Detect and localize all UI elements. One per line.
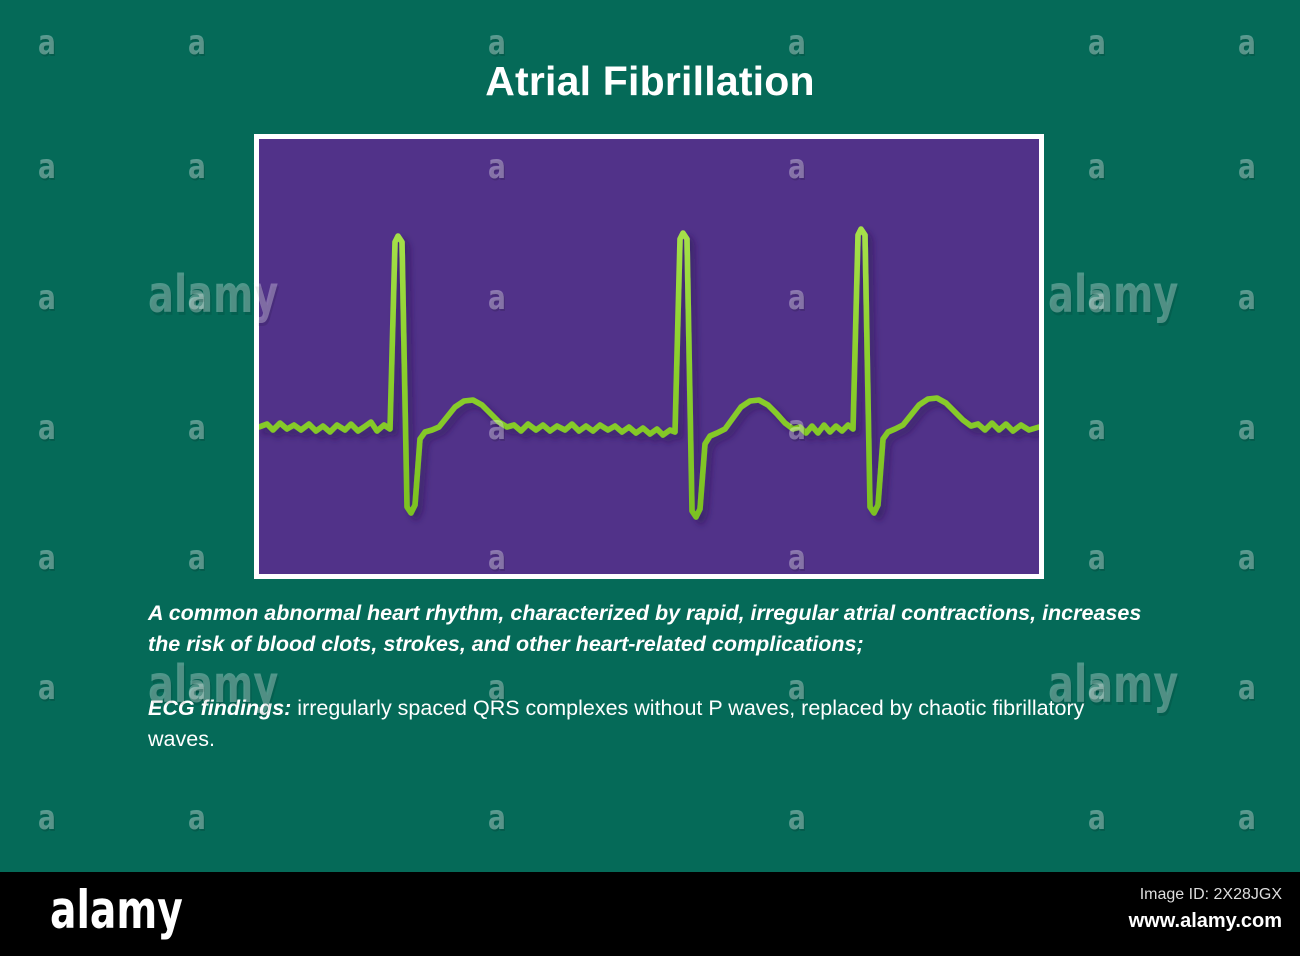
page-title: Atrial Fibrillation [0,58,1300,105]
watermark-glyph: a [38,281,56,315]
watermark-glyph: a [188,26,206,60]
ecg-trace-group [259,229,1039,517]
watermark-glyph: a [788,26,806,60]
watermark-glyph: a [1238,541,1256,575]
watermark-glyph: a [1088,150,1106,184]
website-label: www.alamy.com [1129,910,1282,933]
watermark-glyph: a [1238,150,1256,184]
watermark-glyph: a [1088,541,1106,575]
watermark-wordmark: alamy [1048,269,1178,321]
watermark-glyph: a [188,541,206,575]
watermark-glyph: a [1088,411,1106,445]
image-id-label: Image ID: 2X28JGX [1140,886,1282,904]
footer-bar [0,872,1300,956]
watermark-glyph: a [188,281,206,315]
watermark-glyph: a [38,150,56,184]
watermark-glyph: a [1238,26,1256,60]
watermark-glyph: a [1238,671,1256,705]
watermark-glyph: a [1238,411,1256,445]
description-block: A common abnormal heart rhythm, characte… [148,598,1153,755]
watermark-glyph: a [38,411,56,445]
watermark-glyph: a [788,801,806,835]
ecg-waveform-chart [259,139,1039,574]
watermark-glyph: a [1088,801,1106,835]
alamy-logo: alamy [50,884,183,937]
watermark-glyph: a [188,150,206,184]
watermark-glyph: a [38,26,56,60]
watermark-glyph: a [188,411,206,445]
watermark-glyph: a [38,541,56,575]
watermark-glyph: a [38,671,56,705]
watermark-glyph: a [1238,281,1256,315]
watermark-glyph: a [1088,281,1106,315]
ecg-trace-path [259,229,1039,517]
watermark-glyph: a [1238,801,1256,835]
poster-canvas: Atrial Fibrillation [0,0,1300,956]
watermark-glyph: a [188,801,206,835]
ecg-panel [254,134,1044,579]
ecg-plot-area [259,139,1039,574]
ecg-findings-label: ECG findings: [148,696,291,720]
watermark-glyph: a [38,801,56,835]
watermark-glyph: a [488,26,506,60]
watermark-glyph: a [488,801,506,835]
paragraph-definition: A common abnormal heart rhythm, characte… [148,598,1153,660]
paragraph-ecg-findings: ECG findings: irregularly spaced QRS com… [148,693,1153,755]
watermark-glyph: a [1088,26,1106,60]
